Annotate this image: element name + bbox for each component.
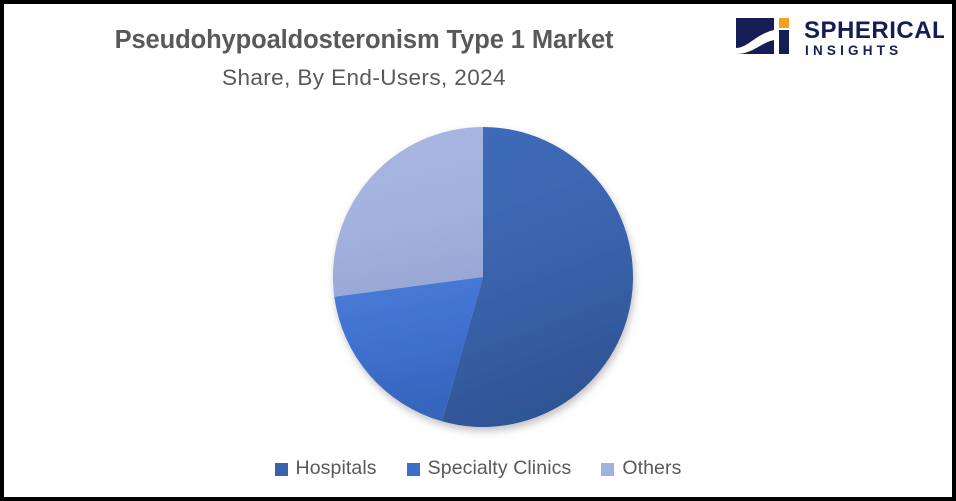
legend-item[interactable]: Specialty Clinics xyxy=(407,457,572,480)
chart-title: Pseudohypoaldosteronism Type 1 Market xyxy=(4,26,724,55)
title-block: Pseudohypoaldosteronism Type 1 Market Sh… xyxy=(4,26,724,91)
spherical-insights-logo: SPHERICAL INSIGHTS xyxy=(722,10,944,62)
chart-figure: Pseudohypoaldosteronism Type 1 Market Sh… xyxy=(0,0,956,501)
legend-label: Others xyxy=(622,457,681,480)
pie-chart xyxy=(322,116,644,438)
legend-item[interactable]: Hospitals xyxy=(275,457,377,480)
legend-item[interactable]: Others xyxy=(601,457,681,480)
legend-swatch-icon xyxy=(601,463,614,476)
legend-swatch-icon xyxy=(407,463,420,476)
logo-word-insights: INSIGHTS xyxy=(805,43,902,58)
logo-mark-icon xyxy=(736,18,789,54)
legend-label: Specialty Clinics xyxy=(428,457,572,480)
pie-slices xyxy=(333,127,633,427)
chart-subtitle: Share, By End-Users, 2024 xyxy=(4,65,724,91)
pie-slice[interactable] xyxy=(333,127,483,297)
chart-legend: HospitalsSpecialty ClinicsOthers xyxy=(4,457,952,480)
legend-label: Hospitals xyxy=(296,457,377,480)
logo-word-spherical: SPHERICAL xyxy=(804,17,944,44)
legend-swatch-icon xyxy=(275,463,288,476)
